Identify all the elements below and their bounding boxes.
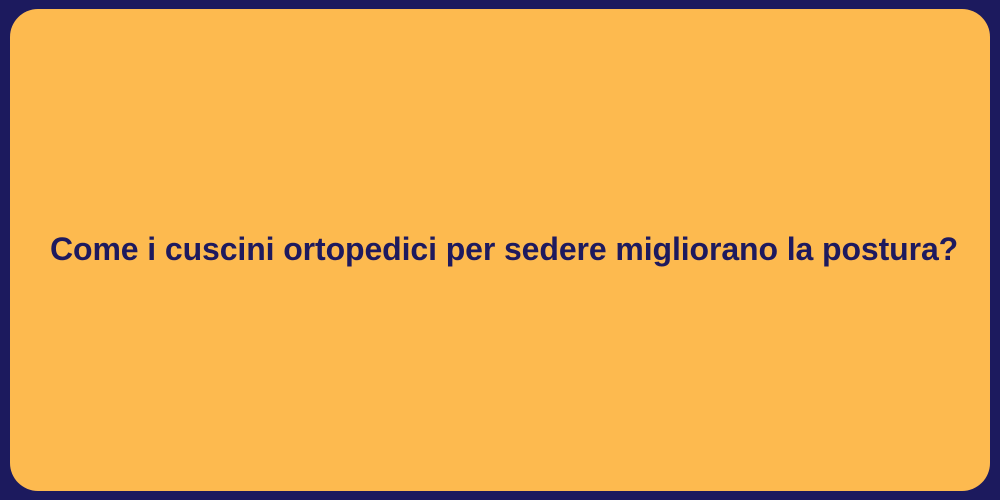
page-title: Come i cuscini ortopedici per sedere mig… — [10, 229, 990, 271]
content-card: Come i cuscini ortopedici per sedere mig… — [10, 9, 990, 491]
banner-frame: Come i cuscini ortopedici per sedere mig… — [0, 0, 1000, 500]
